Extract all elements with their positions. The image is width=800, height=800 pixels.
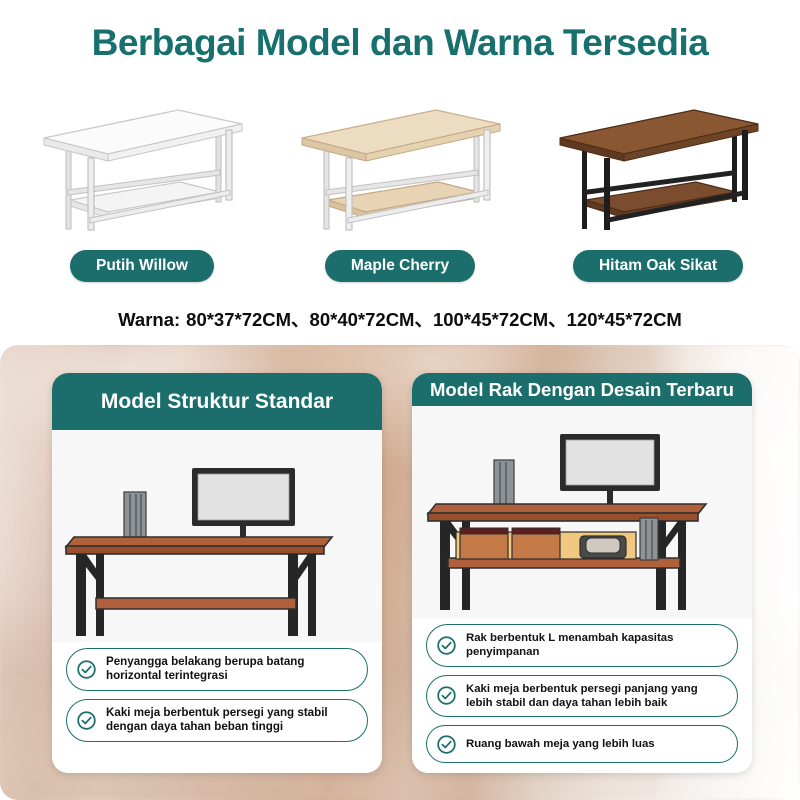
feature-text: Kaki meja berbentuk persegi yang stabil … xyxy=(106,706,355,735)
infographic-page: Berbagai Model dan Warna Tersedia xyxy=(0,0,800,800)
check-circle-icon xyxy=(436,734,457,755)
comparison-cards: Model Struktur Standar xyxy=(0,345,800,800)
variant-label-hitam-oak-sikat: Hitam Oak Sikat xyxy=(573,250,743,282)
variant-item-maple-cherry[interactable]: Maple Cherry xyxy=(276,82,524,292)
feature-item[interactable]: Ruang bawah meja yang lebih luas xyxy=(426,725,738,763)
desk-oak-icon xyxy=(546,82,771,242)
desk-standard-illustration xyxy=(52,430,382,642)
desk-white-icon xyxy=(30,82,255,242)
card-standard-model: Model Struktur Standar xyxy=(52,373,382,773)
sizes-label: Warna: xyxy=(118,309,180,330)
sizes-values: 80*37*72CM、80*40*72CM、100*45*72CM、120*45… xyxy=(186,309,682,330)
feature-list-shelf: Rak berbentuk L menambah kapasitas penyi… xyxy=(412,618,752,773)
check-circle-icon xyxy=(436,685,457,706)
feature-item[interactable]: Kaki meja berbentuk persegi yang stabil … xyxy=(66,699,368,742)
variant-label-maple-cherry: Maple Cherry xyxy=(325,250,475,282)
check-circle-icon xyxy=(76,710,97,731)
variants-section: Berbagai Model dan Warna Tersedia xyxy=(0,0,800,345)
feature-item[interactable]: Rak berbentuk L menambah kapasitas penyi… xyxy=(426,624,738,667)
card-title-standard: Model Struktur Standar xyxy=(52,373,382,430)
feature-text: Rak berbentuk L menambah kapasitas penyi… xyxy=(466,631,725,660)
card-shelf-model: Model Rak Dengan Desain Terbaru xyxy=(412,373,752,773)
variant-list: Putih Willow xyxy=(18,82,782,292)
card-title-shelf: Model Rak Dengan Desain Terbaru xyxy=(412,373,752,406)
feature-text: Penyangga belakang berupa batang horizon… xyxy=(106,655,355,684)
check-circle-icon xyxy=(436,635,457,656)
sizes-line: Warna:80*37*72CM、80*40*72CM、100*45*72CM、… xyxy=(0,306,800,332)
feature-list-standard: Penyangga belakang berupa batang horizon… xyxy=(52,642,382,773)
variant-item-hitam-oak-sikat[interactable]: Hitam Oak Sikat xyxy=(534,82,782,292)
feature-item[interactable]: Penyangga belakang berupa batang horizon… xyxy=(66,648,368,691)
variant-item-putih-willow[interactable]: Putih Willow xyxy=(18,82,266,292)
page-title: Berbagai Model dan Warna Tersedia xyxy=(0,22,800,64)
desk-shelf-illustration xyxy=(412,406,752,618)
feature-text: Ruang bawah meja yang lebih luas xyxy=(466,737,655,751)
feature-item[interactable]: Kaki meja berbentuk persegi panjang yang… xyxy=(426,675,738,718)
desk-maple-icon xyxy=(288,82,513,242)
feature-text: Kaki meja berbentuk persegi panjang yang… xyxy=(466,682,725,711)
check-circle-icon xyxy=(76,659,97,680)
variant-label-putih-willow: Putih Willow xyxy=(70,250,214,282)
